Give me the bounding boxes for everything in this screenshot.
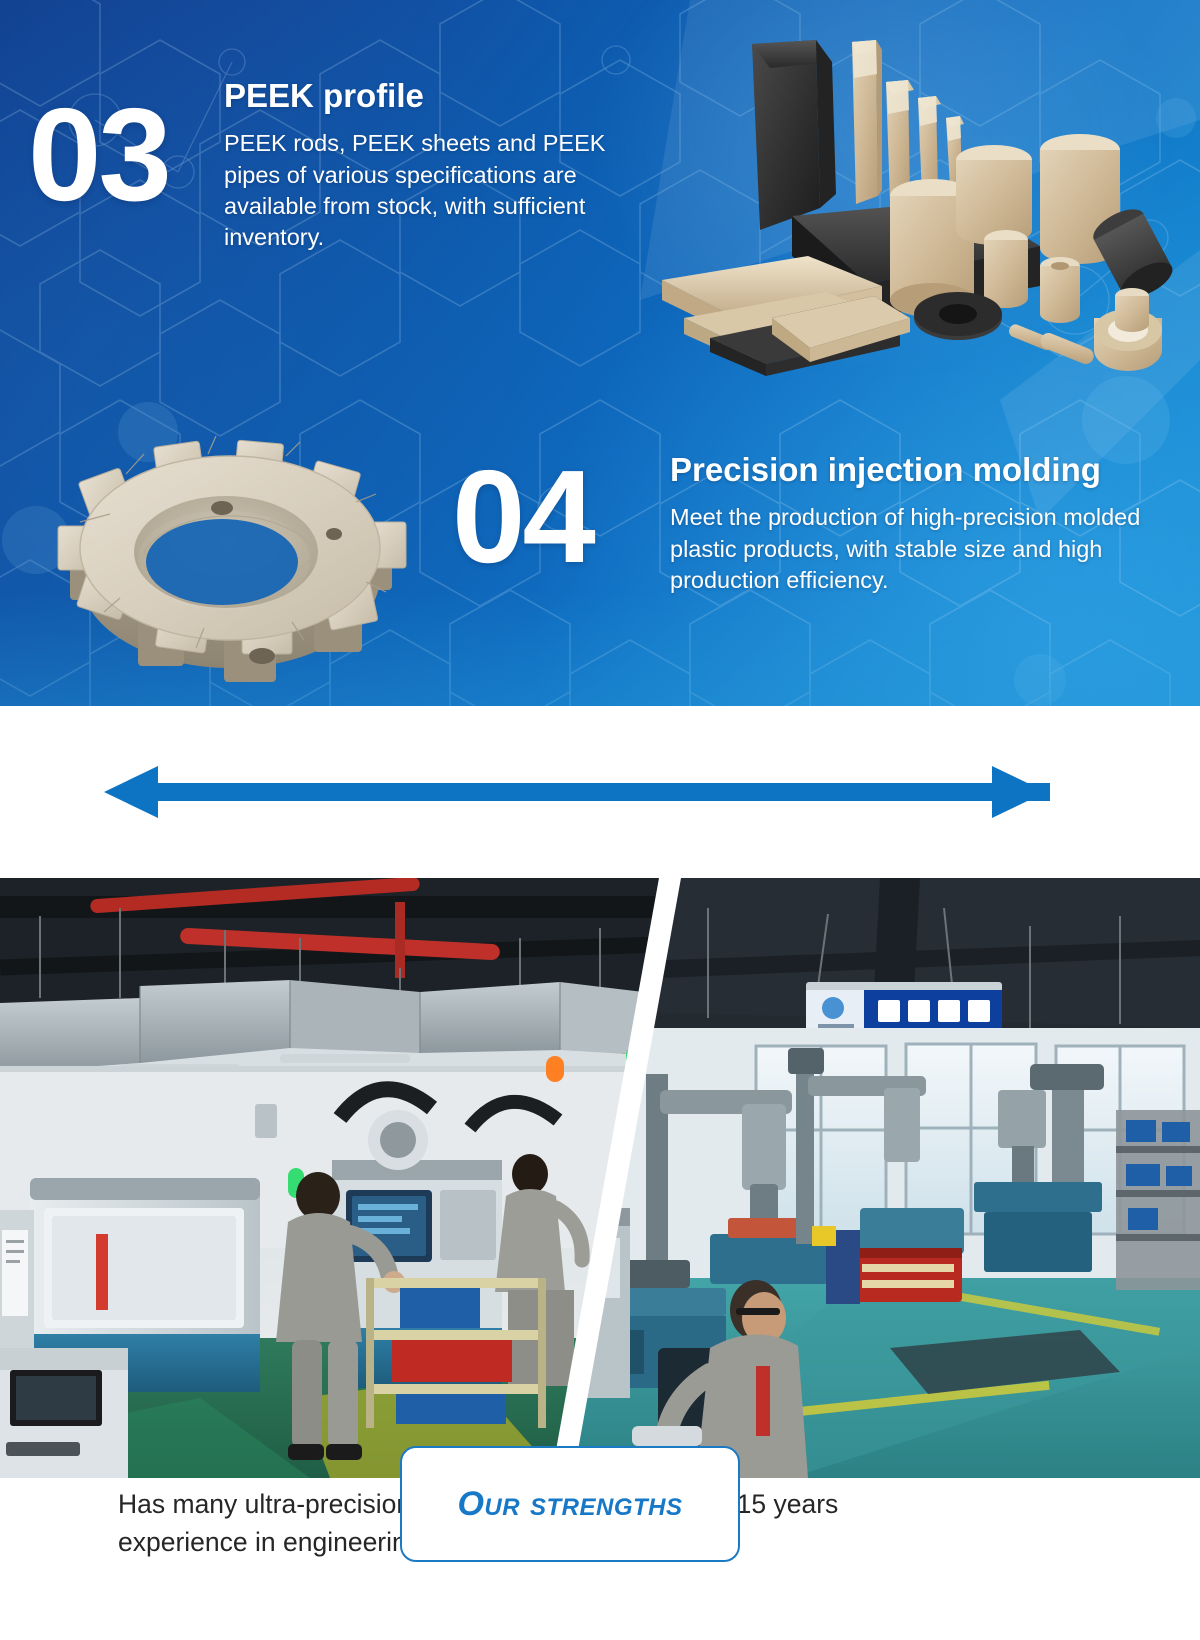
arrow-left-icon bbox=[104, 766, 158, 818]
feature-number-04: 04 bbox=[452, 456, 593, 577]
feature-title-03: PEEK profile bbox=[224, 78, 654, 114]
our-strengths-band: Our strengths bbox=[0, 706, 1200, 876]
feature-body-04: Meet the production of high-precision mo… bbox=[670, 502, 1180, 596]
factory-photo-gallery bbox=[0, 878, 1200, 1478]
feature-body-03: PEEK rods, PEEK sheets and PEEK pipes of… bbox=[224, 128, 654, 253]
peek-gear-ring-photo bbox=[20, 398, 440, 698]
arrow-right-icon bbox=[992, 766, 1046, 818]
peek-profile-products-photo bbox=[620, 18, 1200, 378]
mold-workshop-photo bbox=[560, 878, 1200, 1478]
our-strengths-label: Our strengths bbox=[457, 1485, 682, 1524]
our-strengths-pill: Our strengths bbox=[400, 1446, 740, 1562]
peek-capabilities-page: 03 PEEK profile PEEK rods, PEEK sheets a… bbox=[0, 0, 1200, 1640]
feature-title-04: Precision injection molding bbox=[670, 452, 1180, 488]
double-arrow-graphic bbox=[0, 762, 1200, 822]
feature-number-03: 03 bbox=[28, 94, 169, 215]
cnc-machining-workshop-photo bbox=[0, 878, 660, 1478]
hero-blue-section: 03 PEEK profile PEEK rods, PEEK sheets a… bbox=[0, 0, 1200, 706]
